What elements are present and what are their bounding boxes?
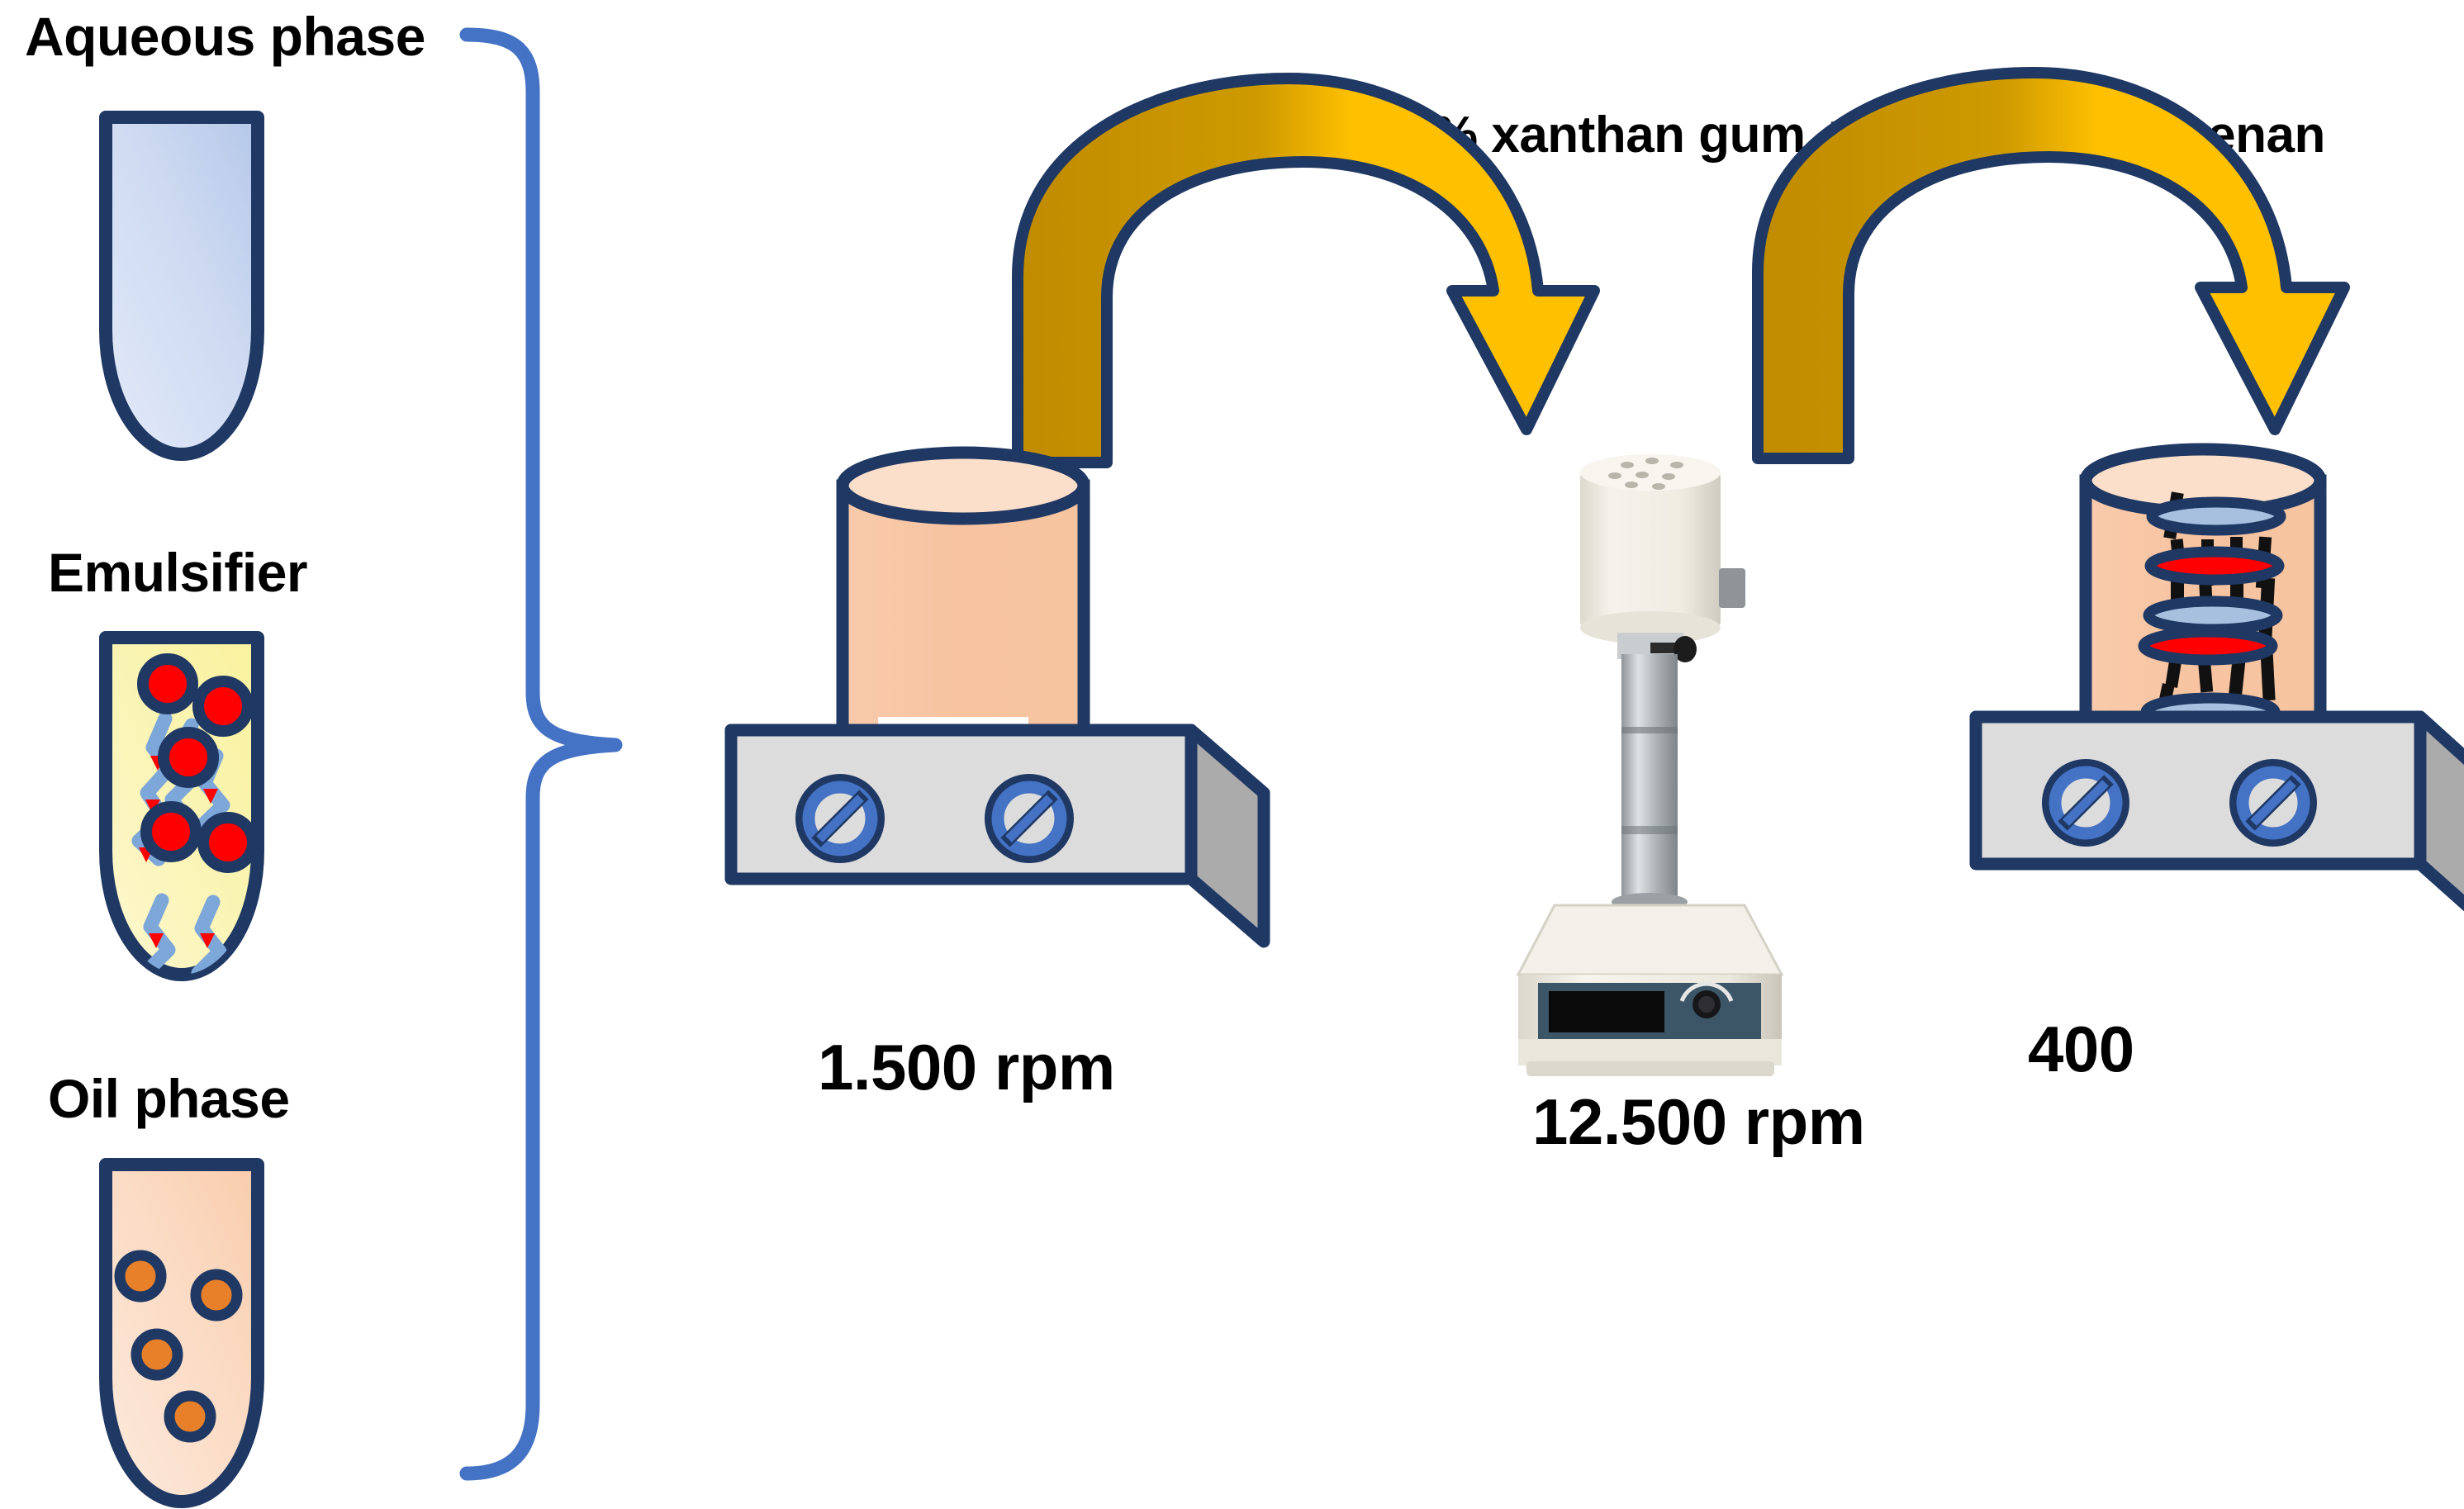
tube-emulsifier xyxy=(106,638,258,994)
homogenizer-base-top xyxy=(1518,905,1782,975)
diagram-artwork xyxy=(0,0,2464,1509)
tube-oil-phase xyxy=(106,1165,258,1502)
hotplate-knob-right-2[interactable] xyxy=(2236,766,2310,840)
hotplate-knob-left-1[interactable] xyxy=(802,781,878,857)
beaker-liquid-surface-left xyxy=(843,453,1084,519)
homogenizer-side-port xyxy=(1719,568,1745,608)
hotplate-front-right xyxy=(1976,717,2420,864)
hotplate-side-right xyxy=(2420,717,2464,925)
hotplate-knob-right-1[interactable] xyxy=(2049,766,2123,840)
homogenizer-shaft-seam-1 xyxy=(1621,727,1678,733)
homogenizer-motor-body xyxy=(1580,471,1721,628)
tube-aqueous-phase xyxy=(106,117,258,454)
arrow-homogenize-to-gel xyxy=(1758,73,2344,458)
homogenizer-base-foot xyxy=(1526,1061,1774,1076)
homogenizer-probe-shaft xyxy=(1621,654,1678,902)
device-magnetic-stirrer-left xyxy=(731,453,1264,942)
homogenizer-display[interactable] xyxy=(1549,991,1664,1032)
gel-network-group xyxy=(2144,491,2281,744)
device-magnetic-stirrer-right xyxy=(1976,449,2464,925)
grouping-bracket xyxy=(467,35,615,1473)
hotplate-side-left xyxy=(1191,730,1264,942)
hotplate-knob-left-2[interactable] xyxy=(991,781,1067,857)
device-high-speed-homogenizer xyxy=(1518,454,1782,1076)
homogenizer-shaft-seam-2 xyxy=(1621,826,1678,834)
diagram-canvas: Aqueous phase Emulsifier Oil phase 1% xa… xyxy=(0,0,2464,1509)
arrow-stir-to-homogenize xyxy=(1018,78,1594,463)
